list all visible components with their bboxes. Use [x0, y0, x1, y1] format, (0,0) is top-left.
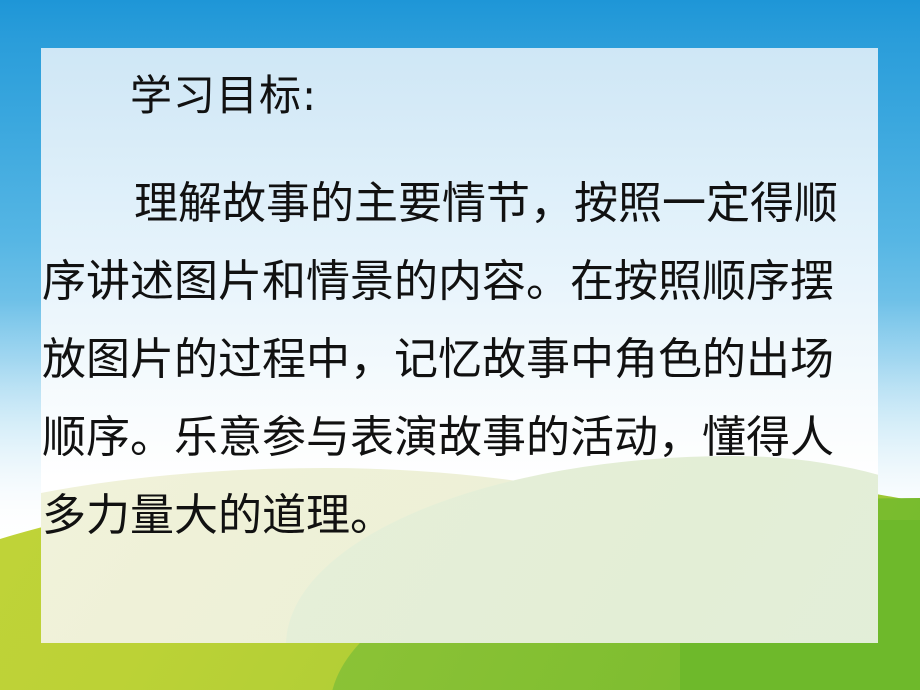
body-line: 序讲述图片和情景的内容。在按照顺序摆	[42, 243, 888, 321]
slide-body-text: 理解故事的主要情节，按照一定得顺 序讲述图片和情景的内容。在按照顺序摆 放图片的…	[42, 165, 888, 555]
slide-canvas: 学习目标: 理解故事的主要情节，按照一定得顺 序讲述图片和情景的内容。在按照顺序…	[0, 0, 920, 690]
text-layer: 学习目标: 理解故事的主要情节，按照一定得顺 序讲述图片和情景的内容。在按照顺序…	[0, 0, 920, 690]
slide-heading: 学习目标:	[130, 72, 317, 120]
body-line: 多力量大的道理。	[42, 477, 888, 555]
body-line: 放图片的过程中，记忆故事中角色的出场	[42, 321, 888, 399]
body-line: 理解故事的主要情节，按照一定得顺	[42, 165, 888, 243]
body-line: 顺序。乐意参与表演故事的活动，懂得人	[42, 399, 888, 477]
